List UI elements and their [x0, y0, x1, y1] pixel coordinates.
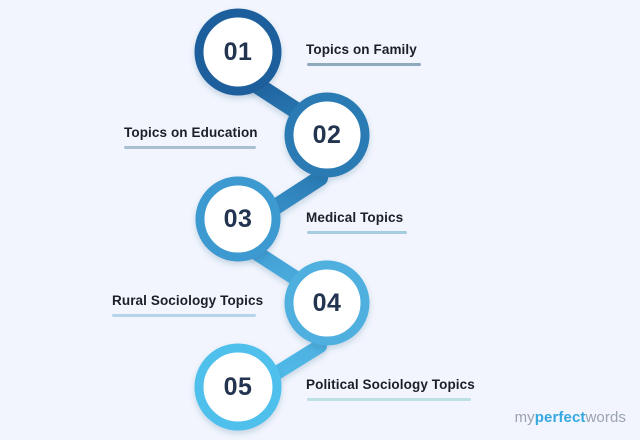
logo-part-my: my: [515, 409, 535, 426]
step-label-text-04: Rural Sociology Topics: [112, 293, 256, 308]
logo-part-perfect: perfect: [535, 409, 586, 426]
infographic-canvas: 01 02 03 04 05 Topics on Family Topics o…: [0, 0, 640, 440]
logo-part-words: words: [585, 409, 626, 426]
node-circle-01[interactable]: [199, 13, 277, 91]
node-circle-02[interactable]: [289, 97, 365, 173]
step-label-rule-03: [307, 231, 407, 234]
step-label-text-03: Medical Topics: [306, 210, 407, 225]
step-label-text-05: Political Sociology Topics: [306, 377, 471, 392]
step-label-rule-02: [124, 146, 256, 149]
step-label-rule-04: [112, 314, 256, 317]
node-circle-03[interactable]: [200, 181, 276, 257]
brand-logo[interactable]: myperfectwords: [515, 409, 626, 426]
step-label-04[interactable]: Rural Sociology Topics: [112, 293, 256, 317]
step-label-rule-05: [307, 398, 471, 401]
step-label-01[interactable]: Topics on Family: [306, 42, 421, 66]
step-label-02[interactable]: Topics on Education: [124, 125, 256, 149]
step-label-text-02: Topics on Education: [124, 125, 256, 140]
step-label-05[interactable]: Political Sociology Topics: [306, 377, 471, 401]
node-circle-04[interactable]: [289, 265, 365, 341]
node-circle-05[interactable]: [199, 348, 277, 426]
step-label-rule-01: [307, 63, 421, 66]
step-label-03[interactable]: Medical Topics: [306, 210, 407, 234]
step-label-text-01: Topics on Family: [306, 42, 421, 57]
